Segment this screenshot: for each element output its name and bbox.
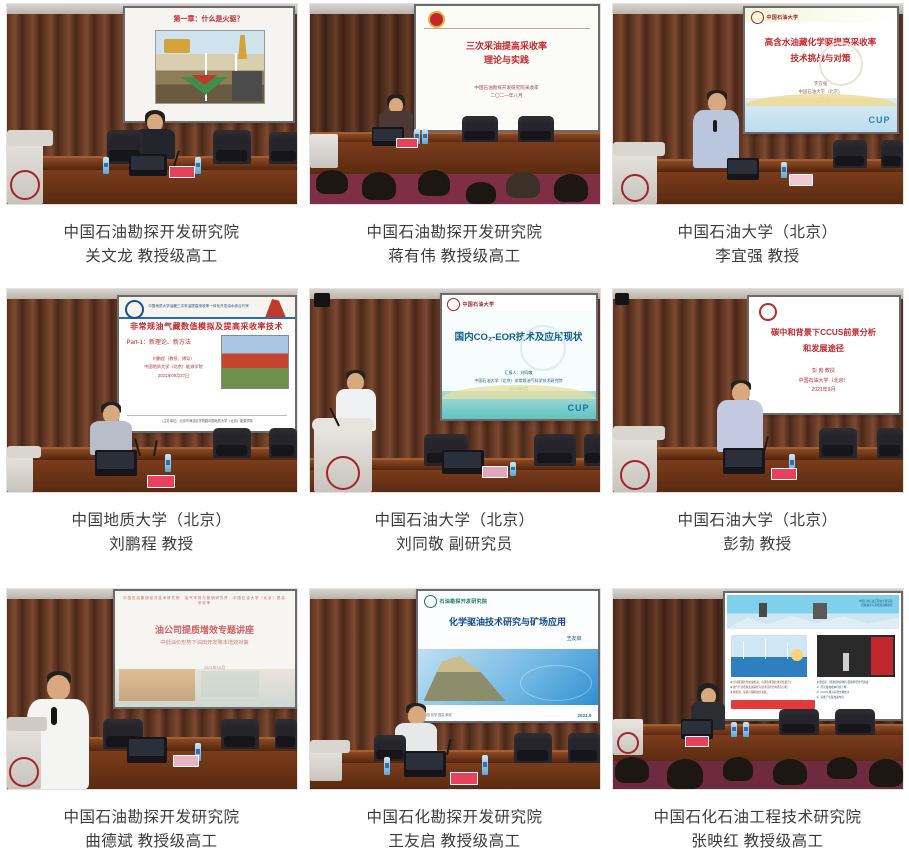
speaker-3: 李宜强 教授 xyxy=(677,245,837,269)
affiliation-7: 中国石油勘探开发研究院 xyxy=(63,806,239,830)
projection-screen: 中国石油集团经济技术研究院 油气市场与营销研究所 中国石油大学（北京）提高采收率… xyxy=(115,591,295,707)
slide-title-7: 油公司提质增效专题讲座 xyxy=(115,623,295,636)
projection-screen: 石油勘探开发研究院 化学驱油技术研究与矿场应用 王友启 油田 化学 提高 采收 … xyxy=(418,591,598,721)
slide-title-5: 国内CO₂-EOR技术及应用现状 xyxy=(442,329,596,343)
gallery-cell-6[interactable]: 碳中和背景下CCUS前景分析 和发展途径 彭 勃 教授 中国石油大学（北京） 2… xyxy=(606,285,909,585)
affiliation-1: 中国石油勘探开发研究院 xyxy=(63,221,239,245)
slide-subtitle-2: 中国石油勘探开发研究院采收率 二〇二一年八月 xyxy=(416,84,598,100)
speaker-figure xyxy=(693,90,739,168)
projection-screen: 第一章：什么是火驱？ xyxy=(125,8,293,121)
slide-extra-4: 刘鹏程（教授、博导） 中国地质大学（北京）能源学院 2021年09月27日 xyxy=(129,355,219,380)
slide-title-4: 非常规油气藏数值模拟及提高采收率技术 xyxy=(119,321,295,332)
caption-9: 中国石化石油工程技术研究院 张映红 教授级高工 xyxy=(653,806,861,854)
caption-4: 中国地质大学（北京） 刘鹏程 教授 xyxy=(71,509,231,557)
photo-8[interactable]: 石油勘探开发研究院 化学驱油技术研究与矿场应用 王友启 油田 化学 提高 采收 … xyxy=(309,588,601,790)
gallery-cell-7[interactable]: 中国石油集团经济技术研究院 油气市场与营销研究所 中国石油大学（北京）提高采收率… xyxy=(0,585,303,854)
projection-screen: 三次采油提高采收率 理论与实践 中国石油勘探开发研究院采收率 二〇二一年八月 xyxy=(416,6,598,130)
projection-screen: 中国石化石油工程技术研究院低碳技术与新能源战略研究 ■ 全球能源转型加速推进，可… xyxy=(725,593,901,719)
projection-screen: 碳中和背景下CCUS前景分析 和发展途径 彭 勃 教授 中国石油大学（北京） 2… xyxy=(749,297,899,413)
slide-title-6: 碳中和背景下CCUS前景分析 和发展途径 xyxy=(749,325,899,358)
speaker-photo-gallery: 第一章：什么是火驱？ xyxy=(0,0,909,854)
affiliation-8: 中国石化勘探开发研究院 xyxy=(366,806,542,830)
photo-4[interactable]: 中国地质大学油藏三次采油提高采收率一体化开发油水综合开采 非常规油气藏数值模拟及… xyxy=(6,288,298,493)
speaker-7: 曲德斌 教授级高工 xyxy=(63,830,239,854)
photo-2[interactable]: 三次采油提高采收率 理论与实践 中国石油勘探开发研究院采收率 二〇二一年八月 xyxy=(309,3,601,205)
photo-6[interactable]: 碳中和背景下CCUS前景分析 和发展途径 彭 勃 教授 中国石油大学（北京） 2… xyxy=(612,288,904,493)
projection-screen: 中国地质大学油藏三次采油提高采收率一体化开发油水综合开采 非常规油气藏数值模拟及… xyxy=(119,297,295,431)
slide-subtitle-8: 王友启 xyxy=(566,635,581,642)
caption-8: 中国石化勘探开发研究院 王友启 教授级高工 xyxy=(366,806,542,854)
audience xyxy=(310,172,600,204)
affiliation-5: 中国石油大学（北京） xyxy=(374,509,534,533)
caption-5: 中国石油大学（北京） 刘同敬 副研究员 xyxy=(374,509,534,557)
speaker-2: 蒋有伟 教授级高工 xyxy=(366,245,542,269)
slide-title-8: 化学驱油技术研究与矿场应用 xyxy=(418,615,598,628)
projection-screen: 中国石油大学 高含水油藏化学驱提高采收率 技术挑战与对策 李宜强 中国石油大学（… xyxy=(745,8,897,132)
projection-screen: 中国石油大学 国内CO₂-EOR技术及应用现状 汇报人：刘同敬 中国石油大学（北… xyxy=(442,295,596,419)
speaker-9: 张映红 教授级高工 xyxy=(653,830,861,854)
gallery-cell-8[interactable]: 石油勘探开发研究院 化学驱油技术研究与矿场应用 王友启 油田 化学 提高 采收 … xyxy=(303,585,606,854)
speaker-4: 刘鹏程 教授 xyxy=(71,533,231,557)
gallery-cell-9[interactable]: 中国石化石油工程技术研究院低碳技术与新能源战略研究 ■ 全球能源转型加速推进，可… xyxy=(606,585,909,854)
gallery-cell-4[interactable]: 中国地质大学油藏三次采油提高采收率一体化开发油水综合开采 非常规油气藏数值模拟及… xyxy=(0,285,303,585)
cup-watermark: CUP xyxy=(868,115,890,125)
photo-7[interactable]: 中国石油集团经济技术研究院 油气市场与营销研究所 中国石油大学（北京）提高采收率… xyxy=(6,588,298,790)
audience xyxy=(613,759,903,789)
cup-watermark: CUP xyxy=(567,403,589,413)
affiliation-2: 中国石油勘探开发研究院 xyxy=(366,221,542,245)
speaker-box xyxy=(314,293,330,307)
slide-subtitle-6: 彭 勃 教授 中国石油大学（北京） 2021年9月 xyxy=(749,367,899,396)
speaker-5: 刘同敬 副研究员 xyxy=(374,533,534,557)
slide-subtitle-7: 中低油价形势下油田开发降本增效对策 xyxy=(115,639,295,646)
slide-title-2: 三次采油提高采收率 理论与实践 xyxy=(416,40,598,67)
caption-7: 中国石油勘探开发研究院 曲德斌 教授级高工 xyxy=(63,806,239,854)
caption-6: 中国石油大学（北京） 彭勃 教授 xyxy=(677,509,837,557)
slide-part-label-4: Part-1：新理论、新方法 xyxy=(127,337,191,346)
affiliation-9: 中国石化石油工程技术研究院 xyxy=(653,806,861,830)
photo-1[interactable]: 第一章：什么是火驱？ xyxy=(6,3,298,205)
photo-3[interactable]: 中国石油大学 高含水油藏化学驱提高采收率 技术挑战与对策 李宜强 中国石油大学（… xyxy=(612,3,904,205)
caption-1: 中国石油勘探开发研究院 关文龙 教授级高工 xyxy=(63,221,239,269)
caption-2: 中国石油勘探开发研究院 蒋有伟 教授级高工 xyxy=(366,221,542,269)
caption-3: 中国石油大学（北京） 李宜强 教授 xyxy=(677,221,837,269)
lectern xyxy=(314,426,372,492)
affiliation-6: 中国石油大学（北京） xyxy=(677,509,837,533)
photo-9[interactable]: 中国石化石油工程技术研究院低碳技术与新能源战略研究 ■ 全球能源转型加速推进，可… xyxy=(612,588,904,790)
gallery-cell-3[interactable]: 中国石油大学 高含水油藏化学驱提高采收率 技术挑战与对策 李宜强 中国石油大学（… xyxy=(606,0,909,285)
slide-title-1: 第一章：什么是火驱？ xyxy=(125,14,293,24)
photo-5[interactable]: 中国石油大学 国内CO₂-EOR技术及应用现状 汇报人：刘同敬 中国石油大学（北… xyxy=(309,288,601,493)
gallery-cell-5[interactable]: 中国石油大学 国内CO₂-EOR技术及应用现状 汇报人：刘同敬 中国石油大学（北… xyxy=(303,285,606,585)
speaker-1: 关文龙 教授级高工 xyxy=(63,245,239,269)
speaker-8: 王友启 教授级高工 xyxy=(366,830,542,854)
slide-date-8: 2021.9 xyxy=(577,713,591,718)
gallery-cell-1[interactable]: 第一章：什么是火驱？ xyxy=(0,0,303,285)
affiliation-4: 中国地质大学（北京） xyxy=(71,509,231,533)
gallery-cell-2[interactable]: 三次采油提高采收率 理论与实践 中国石油勘探开发研究院采收率 二〇二一年八月 xyxy=(303,0,606,285)
affiliation-3: 中国石油大学（北京） xyxy=(677,221,837,245)
speaker-6: 彭勃 教授 xyxy=(677,533,837,557)
